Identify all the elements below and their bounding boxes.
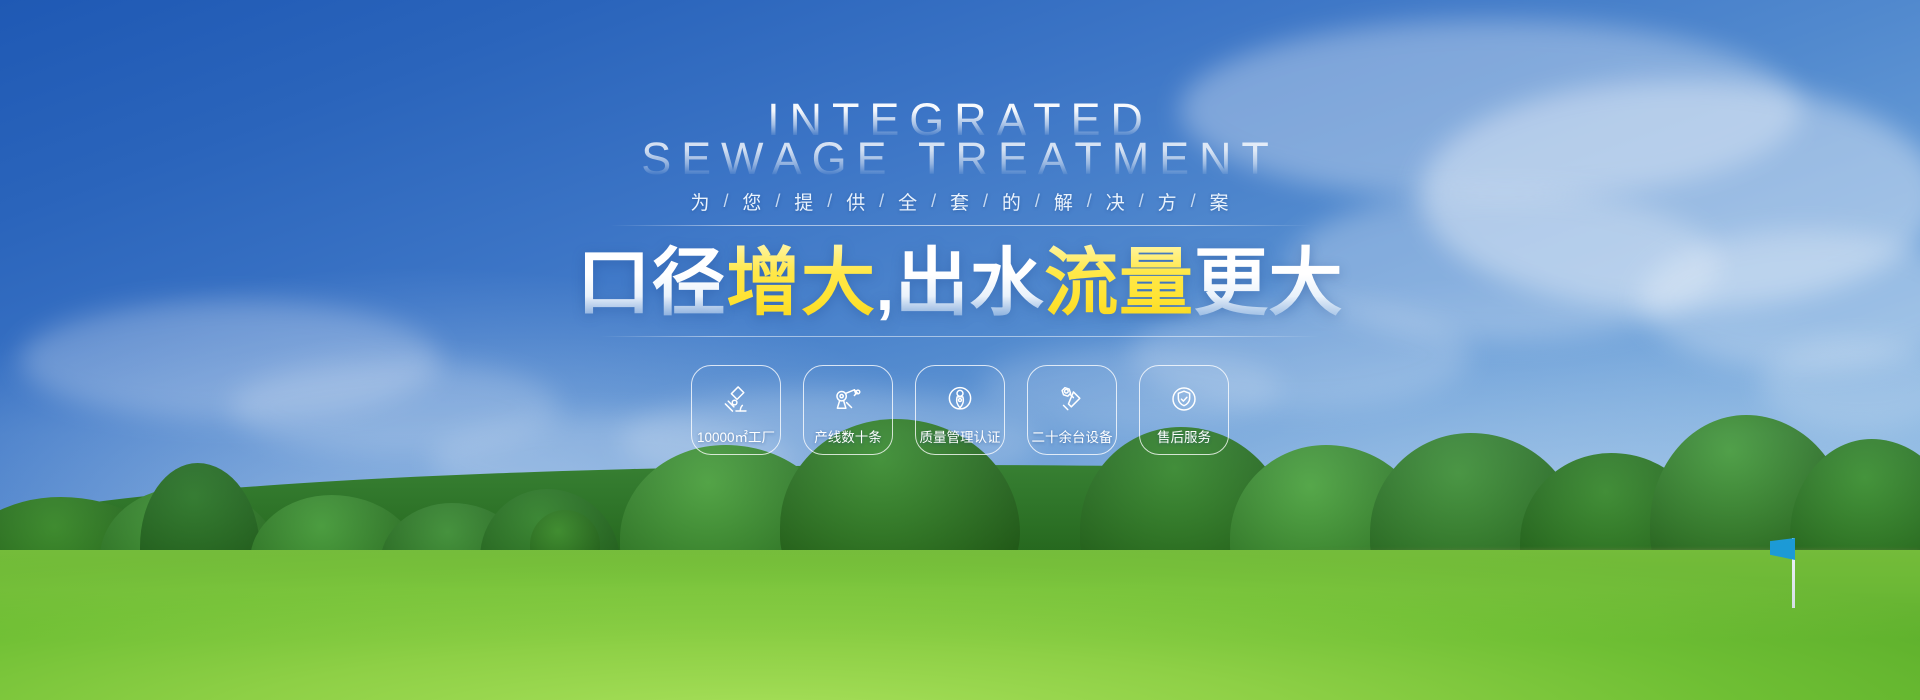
subtitle-char: 供: [833, 188, 879, 215]
feature-badge-label: 产线数十条: [814, 426, 882, 446]
feature-badge-label: 质量管理认证: [920, 426, 1001, 446]
subtitle-char: 您: [729, 188, 775, 215]
production-line-icon: [831, 382, 865, 416]
subtitle-char: 方: [1145, 188, 1191, 215]
headline-segment: ,: [876, 251, 895, 324]
subtitle-char: 提: [781, 188, 827, 215]
headline-segment: 口径: [577, 242, 726, 323]
shield-check-icon: [1167, 382, 1201, 416]
subtitle-char: 决: [1093, 188, 1139, 215]
english-heading-line1: INTEGRATED: [0, 98, 1920, 141]
subtitle-char: 全: [885, 188, 931, 215]
page-title: 口径增大,出水流量更大: [577, 242, 1344, 323]
subtitle-char: 为: [677, 188, 723, 215]
subtitle-char: 案: [1197, 188, 1243, 215]
headline-segment: 更大: [1194, 242, 1343, 323]
feature-badge-label: 二十余台设备: [1032, 426, 1113, 446]
subtitle-chars: 为/您/提/供/全/套/的/解/决/方/案: [677, 188, 1242, 215]
microscope-icon: [719, 382, 753, 416]
feature-badge[interactable]: 10000㎡工厂: [691, 365, 781, 455]
feature-badge[interactable]: 产线数十条: [803, 365, 893, 455]
subtitle-char: 解: [1041, 188, 1087, 215]
banner-stage: INTEGRATED SEWAGE TREATMENT 为/您/提/供/全/套/…: [0, 0, 1920, 700]
feature-badge-label: 10000㎡工厂: [697, 426, 775, 446]
headline-segment: 流量: [1044, 242, 1193, 323]
feature-badge[interactable]: 二十余台设备: [1027, 365, 1117, 455]
english-heading-line2: SEWAGE TREATMENT: [0, 137, 1920, 180]
subtitle-char: 套: [937, 188, 983, 215]
subtitle-char: 的: [989, 188, 1035, 215]
quality-certificate-icon: [943, 382, 977, 416]
feature-badge[interactable]: 质量管理认证: [915, 365, 1005, 455]
feature-badge-list: 10000㎡工厂产线数十条质量管理认证二十余台设备售后服务: [691, 365, 1229, 455]
headline-segment: 增大: [726, 242, 875, 323]
feature-badge-label: 售后服务: [1157, 426, 1211, 446]
banner-content: INTEGRATED SEWAGE TREATMENT 为/您/提/供/全/套/…: [0, 0, 1920, 700]
wrench-bolt-icon: [1055, 382, 1089, 416]
headline-segment: 出水: [895, 242, 1044, 323]
english-heading-block: INTEGRATED SEWAGE TREATMENT: [0, 98, 1920, 180]
subtitle-divider: [610, 225, 1310, 226]
feature-badge[interactable]: 售后服务: [1139, 365, 1229, 455]
headline-divider: [600, 336, 1320, 337]
